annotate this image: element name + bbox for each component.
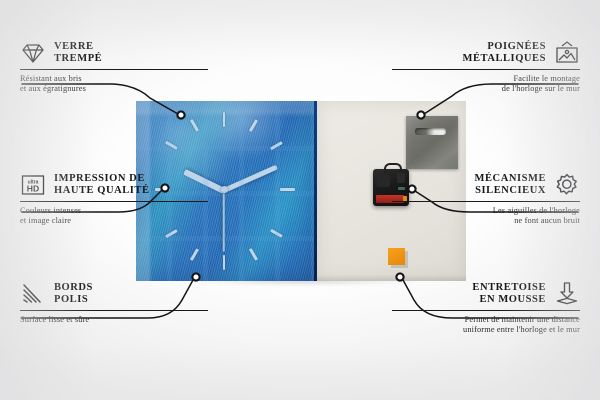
callout-impression-haute-qualite: ultra HD IMPRESSION DEHAUTE QUALITÉ Coul… xyxy=(20,172,208,226)
callout-header: ultra HD IMPRESSION DEHAUTE QUALITÉ xyxy=(20,172,208,198)
infographic-canvas: VERRETREMPÉ Résistant aux briset aux égr… xyxy=(0,0,600,400)
callout-title: MÉCANISMESILENCIEUX xyxy=(475,173,546,198)
callout-description: Permet de maintenir une distanceuniforme… xyxy=(392,315,580,335)
clock-tick xyxy=(249,119,258,132)
svg-text:HD: HD xyxy=(27,184,39,194)
callout-description: Facilite le montagede l'horloge sur le m… xyxy=(392,74,580,94)
callout-bords-polis: BORDSPOLIS Surface lisse et sûre xyxy=(20,281,208,325)
wall-hanger-icon xyxy=(554,40,580,66)
gear-icon xyxy=(554,172,580,198)
clock-tick xyxy=(190,119,199,132)
down-arrow-pad-icon xyxy=(554,281,580,307)
callout-verre-trempe: VERRETREMPÉ Résistant aux briset aux égr… xyxy=(20,40,208,94)
clock-minute-hand xyxy=(223,165,278,193)
clock-tick xyxy=(190,248,199,261)
callout-title: ENTRETOISEEN MOUSSE xyxy=(472,282,546,307)
callout-title: BORDSPOLIS xyxy=(54,282,93,307)
clock-tick xyxy=(270,141,283,150)
callout-title: POIGNÉESMÉTALLIQUES xyxy=(463,41,546,66)
callout-header: POIGNÉESMÉTALLIQUES xyxy=(392,40,580,66)
callout-header: ENTRETOISEEN MOUSSE xyxy=(392,281,580,307)
callout-description: Couleurs intenseset image claire xyxy=(20,206,208,226)
mechanism-body-detail xyxy=(377,174,390,187)
callout-description: Surface lisse et sûre xyxy=(20,315,208,325)
diamond-icon xyxy=(20,40,46,66)
callout-rule xyxy=(20,69,208,70)
clock-tick xyxy=(223,112,226,127)
clock-second-hand xyxy=(223,190,225,252)
callout-mecanisme-silencieux: MÉCANISMESILENCIEUX Les aiguilles de l'h… xyxy=(392,172,580,226)
clock-tick xyxy=(270,229,283,238)
ultra-hd-icon: ultra HD xyxy=(20,172,46,198)
callout-rule xyxy=(20,201,208,202)
callout-poignees-metalliques: POIGNÉESMÉTALLIQUES Facilite le montaged… xyxy=(392,40,580,94)
callout-title: IMPRESSION DEHAUTE QUALITÉ xyxy=(54,173,150,198)
callout-rule xyxy=(20,310,208,311)
callout-rule xyxy=(392,201,580,202)
hanger-plate xyxy=(406,116,458,169)
foam-spacer xyxy=(388,248,405,265)
clock-tick xyxy=(280,188,295,191)
clock-hand-cap xyxy=(221,186,228,193)
callout-rule xyxy=(392,69,580,70)
callout-header: MÉCANISMESILENCIEUX xyxy=(392,172,580,198)
polished-edges-icon xyxy=(20,281,46,307)
callout-description: Résistant aux briset aux égratignures xyxy=(20,74,208,94)
clock-tick xyxy=(165,229,178,238)
callout-entretoise-en-mousse: ENTRETOISEEN MOUSSE Permet de maintenir … xyxy=(392,281,580,335)
callout-header: BORDSPOLIS xyxy=(20,281,208,307)
clock-tick xyxy=(165,141,178,150)
callout-header: VERRETREMPÉ xyxy=(20,40,208,66)
clock-tick xyxy=(249,248,258,261)
clock-tick xyxy=(223,255,226,270)
callout-description: Les aiguilles de l'horlogene font aucun … xyxy=(392,206,580,226)
hanger-keyhole-slot xyxy=(415,128,446,135)
callout-title: VERRETREMPÉ xyxy=(54,41,102,66)
callout-rule xyxy=(392,310,580,311)
